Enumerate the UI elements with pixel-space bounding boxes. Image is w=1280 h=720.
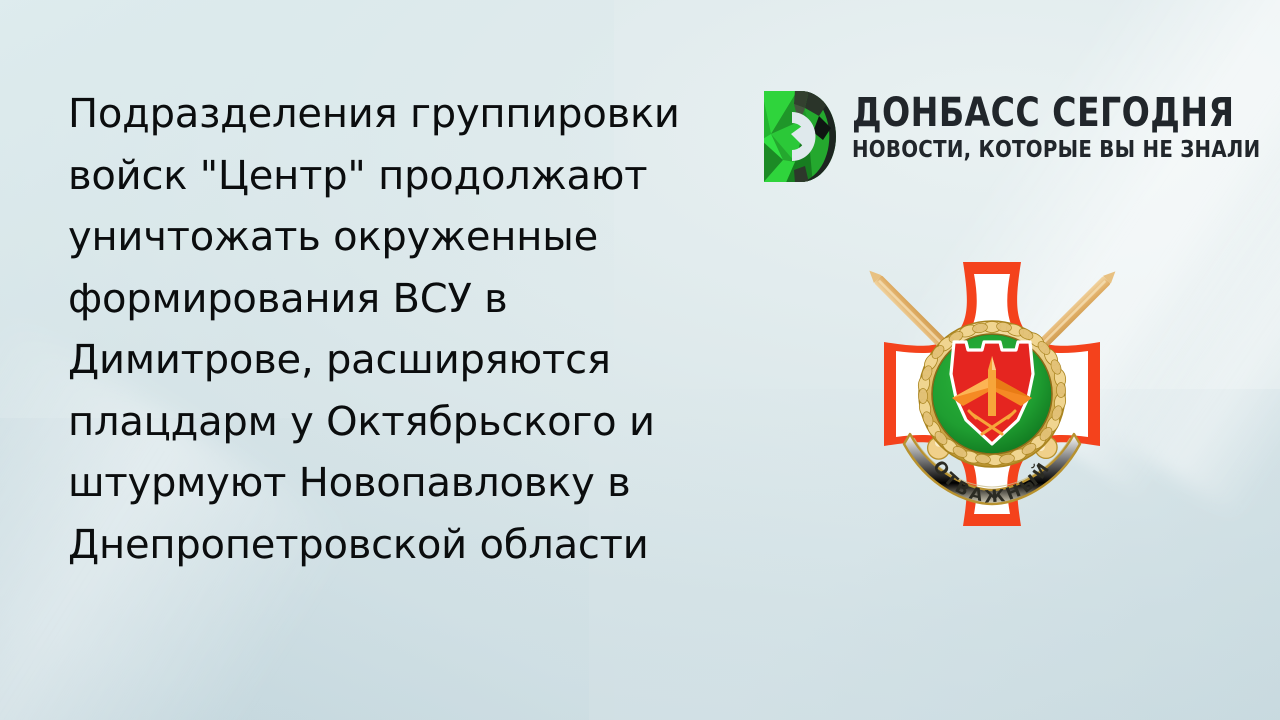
- brand-subtitle: НОВОСТИ, КОТОРЫЕ ВЫ НЕ ЗНАЛИ: [852, 137, 1260, 163]
- brand-wordmark: ДОНБАСС СЕГОДНЯ НОВОСТИ, КОТОРЫЕ ВЫ НЕ З…: [852, 88, 1280, 163]
- headline-text: Подразделения группировки войск "Центр" …: [68, 84, 748, 576]
- otvazhny-order-icon: ОТВАЖНЫЙ: [832, 238, 1152, 550]
- brand-logo: ДОНБАСС СЕГОДНЯ НОВОСТИ, КОТОРЫЕ ВЫ НЕ З…: [761, 88, 1280, 185]
- news-graphic-card: Подразделения группировки войск "Центр" …: [0, 0, 1280, 720]
- brand-title: ДОНБАСС СЕГОДНЯ: [852, 91, 1246, 135]
- order-emblem: ОТВАЖНЫЙ: [832, 238, 1152, 550]
- donbass-d-logo-icon: [761, 88, 839, 185]
